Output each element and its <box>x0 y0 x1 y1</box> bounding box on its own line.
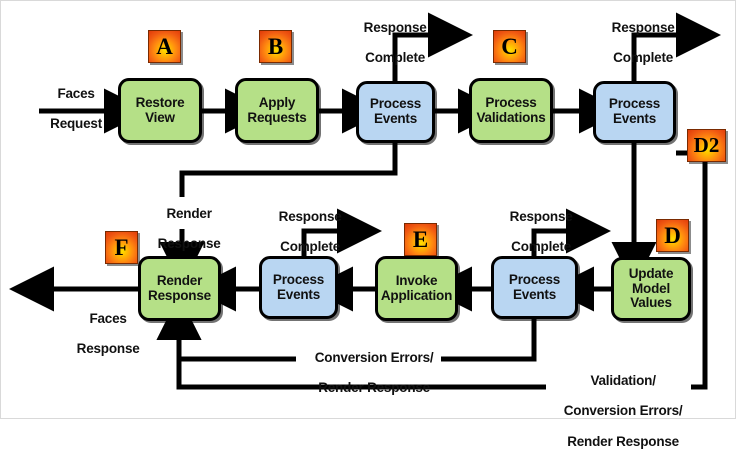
label-validation-errors-line2: Conversion Errors/ <box>564 403 683 418</box>
node-process-validations-line2: Validations <box>474 111 547 126</box>
label-response-complete-1-line1: Response <box>364 20 427 35</box>
label-response-complete-3: Response Complete <box>253 194 353 270</box>
node-apply-requests[interactable]: Apply Requests <box>235 78 319 143</box>
node-process-validations[interactable]: Process Validations <box>469 78 553 143</box>
node-process-events-4-line2: Events <box>271 288 326 303</box>
node-apply-requests-line1: Apply <box>245 96 308 111</box>
label-render-response-input-line1: Render <box>166 206 211 221</box>
badge-f[interactable]: F <box>105 231 138 264</box>
badge-a[interactable]: A <box>148 30 181 63</box>
label-conversion-errors-line1: Conversion Errors/ <box>315 350 434 365</box>
node-process-events-2[interactable]: Process Events <box>593 81 676 143</box>
node-render-response-line1: Render <box>146 274 213 289</box>
label-response-complete-3-line1: Response <box>279 209 342 224</box>
label-conversion-errors-line2: Render Response <box>318 380 430 395</box>
node-process-events-1-line1: Process <box>368 97 423 112</box>
node-restore-view[interactable]: Restore View <box>118 78 202 143</box>
node-invoke-application[interactable]: Invoke Application <box>375 256 458 321</box>
node-invoke-application-line1: Invoke <box>379 274 454 289</box>
node-update-model-values-line3: Values <box>627 296 676 311</box>
jsf-lifecycle-diagram: Restore View Apply Requests Process Even… <box>0 0 736 419</box>
label-response-complete-3-line2: Complete <box>280 239 340 254</box>
label-response-complete-2-line1: Response <box>612 20 675 35</box>
label-faces-request-line1: Faces <box>57 86 94 101</box>
label-faces-response-line2: Response <box>77 341 140 356</box>
label-faces-response-line1: Faces <box>89 311 126 326</box>
label-faces-response: Faces Response <box>57 296 145 372</box>
node-process-events-3-line2: Events <box>507 288 562 303</box>
label-response-complete-1-line2: Complete <box>365 50 425 65</box>
node-process-validations-line1: Process <box>474 96 547 111</box>
label-render-response-input: Render Response <box>136 191 228 267</box>
node-process-events-2-line2: Events <box>607 112 662 127</box>
label-render-response-input-line2: Response <box>158 236 221 251</box>
node-update-model-values[interactable]: Update Model Values <box>611 257 691 321</box>
node-process-events-3-line1: Process <box>507 273 562 288</box>
badge-c[interactable]: C <box>493 30 526 63</box>
label-response-complete-1: Response Complete <box>338 5 438 81</box>
wire-conv-errors-into-render <box>179 335 296 359</box>
label-response-complete-2: Response Complete <box>586 5 686 81</box>
wire-conv-errors-right <box>441 319 534 359</box>
node-invoke-application-line2: Application <box>379 289 454 304</box>
label-validation-errors: Validation/ Conversion Errors/ Render Re… <box>541 358 691 464</box>
label-faces-request: Faces Request <box>29 71 109 147</box>
node-render-response-line2: Response <box>146 289 213 304</box>
node-process-events-4-line1: Process <box>271 273 326 288</box>
badge-d[interactable]: D <box>656 219 689 252</box>
label-validation-errors-line3: Render Response <box>567 434 679 449</box>
node-process-events-2-line1: Process <box>607 97 662 112</box>
node-restore-view-line1: Restore <box>134 96 187 111</box>
node-restore-view-line2: View <box>134 111 187 126</box>
label-faces-request-line2: Request <box>50 116 102 131</box>
label-validation-errors-line1: Validation/ <box>590 373 655 388</box>
node-process-events-1-line2: Events <box>368 112 423 127</box>
node-update-model-values-line1: Update <box>627 267 676 282</box>
node-update-model-values-line2: Model <box>627 282 676 297</box>
badge-d2[interactable]: D2 <box>687 129 726 162</box>
wire-pe1-render-response-branch <box>182 143 395 197</box>
label-response-complete-2-line2: Complete <box>613 50 673 65</box>
node-apply-requests-line2: Requests <box>245 111 308 126</box>
label-response-complete-4-line1: Response <box>510 209 573 224</box>
label-response-complete-4-line2: Complete <box>511 239 571 254</box>
label-conversion-errors: Conversion Errors/ Render Response <box>289 335 445 411</box>
badge-b[interactable]: B <box>259 30 292 63</box>
badge-e[interactable]: E <box>404 223 437 256</box>
node-process-events-1[interactable]: Process Events <box>356 81 435 143</box>
label-response-complete-4: Response Complete <box>484 194 584 270</box>
